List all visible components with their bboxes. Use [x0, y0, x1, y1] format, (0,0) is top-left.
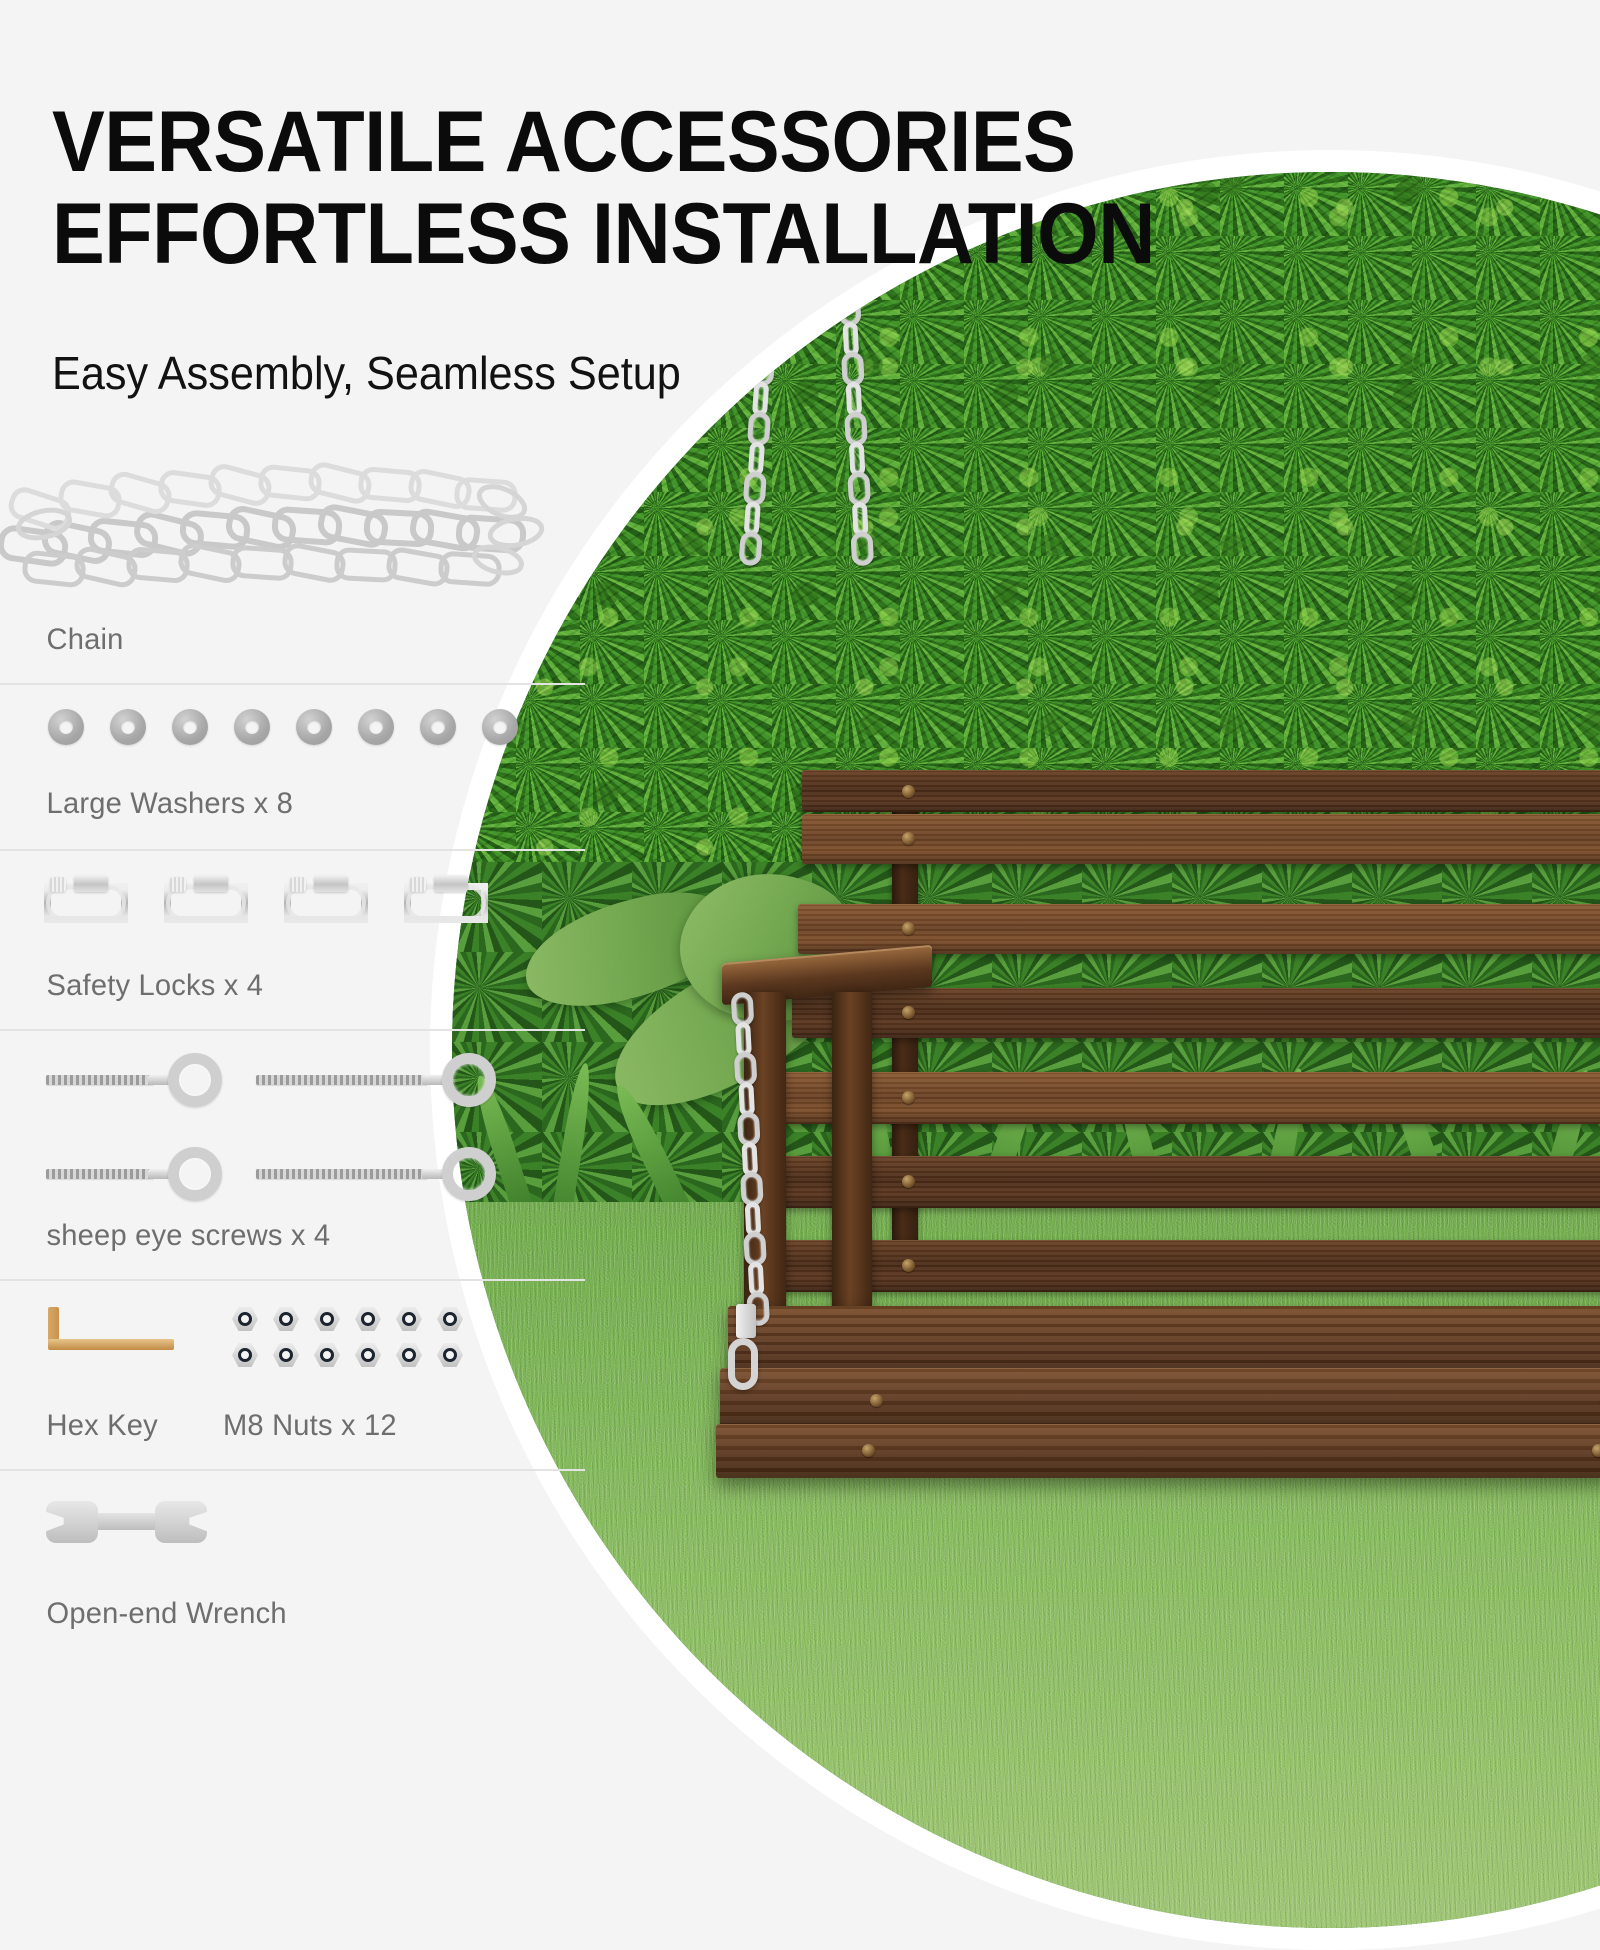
page-subtitle: Easy Assembly, Seamless Setup [52, 346, 681, 400]
hex-nut [437, 1307, 463, 1331]
hex-nut [355, 1343, 381, 1367]
porch-swing-bench [692, 692, 1600, 1492]
backrest-slat [776, 1156, 1600, 1208]
list-item-label: Safety Locks x 4 [0, 955, 567, 1029]
hex-nut [437, 1343, 463, 1367]
hex-key-icon [40, 1307, 190, 1361]
washer [172, 709, 208, 745]
eye-screw-icon [0, 1031, 585, 1213]
list-item-label: sheep eye screws x 4 [0, 1213, 567, 1279]
safety-lock [404, 877, 488, 923]
quick-link-icon [0, 851, 585, 955]
safety-lock-collar [736, 1304, 756, 1338]
hex-nut [232, 1343, 258, 1367]
eye-screw [40, 1147, 250, 1199]
washer [420, 709, 456, 745]
list-item: Safety Locks x 4 [0, 849, 585, 1029]
hex-nut [314, 1343, 340, 1367]
washer [482, 709, 518, 745]
seat-front-rail [720, 1368, 1600, 1430]
eye-screw [250, 1053, 480, 1105]
washer [48, 709, 84, 745]
page-title: VERSATILE ACCESSORIES EFFORTLESS INSTALL… [52, 96, 1132, 280]
list-item-label: M8 Nuts x 12 [223, 1409, 397, 1443]
chain-icon [0, 440, 585, 615]
safety-lock [728, 1338, 758, 1390]
washer [234, 709, 270, 745]
washer [296, 709, 332, 745]
hex-nut-icon [232, 1307, 478, 1367]
headline-line-1: VERSATILE ACCESSORIES [52, 96, 1046, 188]
safety-lock [164, 877, 248, 923]
list-item-label: Hex Key [0, 1409, 216, 1443]
backrest-slat [802, 814, 1600, 864]
list-item: sheep eye screws x 4 [0, 1029, 585, 1279]
washer [110, 709, 146, 745]
accessories-list: Chain Large Washers x 8 [0, 440, 600, 1631]
list-item-label: Large Washers x 8 [0, 767, 567, 849]
hex-nut [396, 1307, 422, 1331]
eye-screw [250, 1147, 480, 1199]
list-item: Hex Key M8 Nuts x 12 [0, 1279, 585, 1469]
backrest-slat [768, 1240, 1600, 1292]
armrest-post [832, 992, 872, 1322]
washer [358, 709, 394, 745]
hex-nut [273, 1307, 299, 1331]
hex-nut [273, 1343, 299, 1367]
seat-bottom-rail [716, 1424, 1600, 1478]
backrest-slat [802, 770, 1600, 812]
chain-coil-svg [0, 440, 560, 610]
hex-nut [396, 1343, 422, 1367]
hex-nut [355, 1307, 381, 1331]
safety-lock [44, 877, 128, 923]
list-item-label: Open-end Wrench [0, 1591, 567, 1631]
list-item: Large Washers x 8 [0, 683, 585, 849]
backrest-slat [792, 988, 1600, 1038]
open-end-wrench-icon [0, 1471, 585, 1591]
list-item: Open-end Wrench [0, 1469, 585, 1631]
list-item: Chain [0, 440, 585, 683]
list-item-label: Chain [0, 615, 567, 683]
headline-line-2: EFFORTLESS INSTALLATION [52, 188, 1046, 280]
hex-nut [232, 1307, 258, 1331]
eye-screw [40, 1053, 250, 1105]
open-end-wrench [44, 1495, 209, 1547]
safety-lock [284, 877, 368, 923]
hex-nut [314, 1307, 340, 1331]
washer-icon [0, 685, 585, 767]
backrest-slat [784, 1072, 1600, 1124]
